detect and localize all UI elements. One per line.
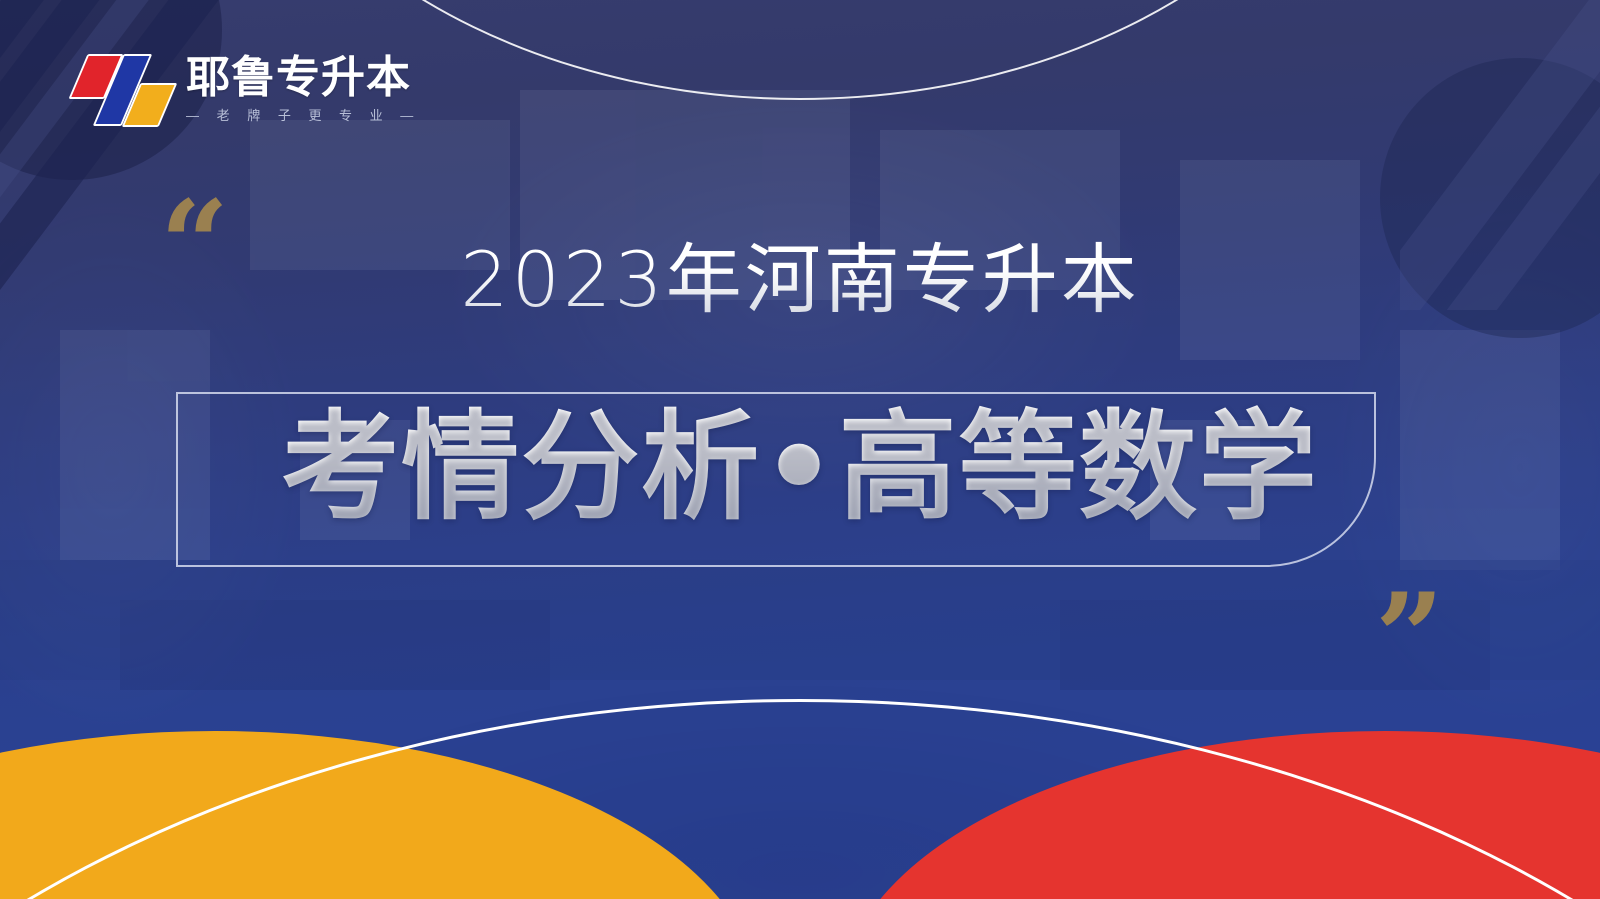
decorative-ellipse-red xyxy=(840,731,1600,899)
brand-name: 耶鲁专升本 xyxy=(186,56,420,100)
brand-logo: 耶鲁专升本 — 老 牌 子 更 专 业 — xyxy=(74,50,420,128)
decorative-arc-bottom xyxy=(0,699,1600,899)
quote-close-icon: ” xyxy=(1375,578,1444,698)
poster-title: 考情分析•高等数学 xyxy=(0,398,1600,537)
decorative-ellipse-yellow xyxy=(0,731,760,899)
brand-tagline: — 老 牌 子 更 专 业 — xyxy=(186,102,420,122)
headline-block: 2023年河南专升本 xyxy=(0,240,1600,320)
logo-mark-icon xyxy=(74,50,172,128)
brand-logo-text: 耶鲁专升本 — 老 牌 子 更 专 业 — xyxy=(186,56,420,122)
poster-subtitle: 2023年河南专升本 xyxy=(0,240,1600,320)
poster-slide: 耶鲁专升本 — 老 牌 子 更 专 业 — “ ” 2023年河南专升本 考情分… xyxy=(0,0,1600,899)
